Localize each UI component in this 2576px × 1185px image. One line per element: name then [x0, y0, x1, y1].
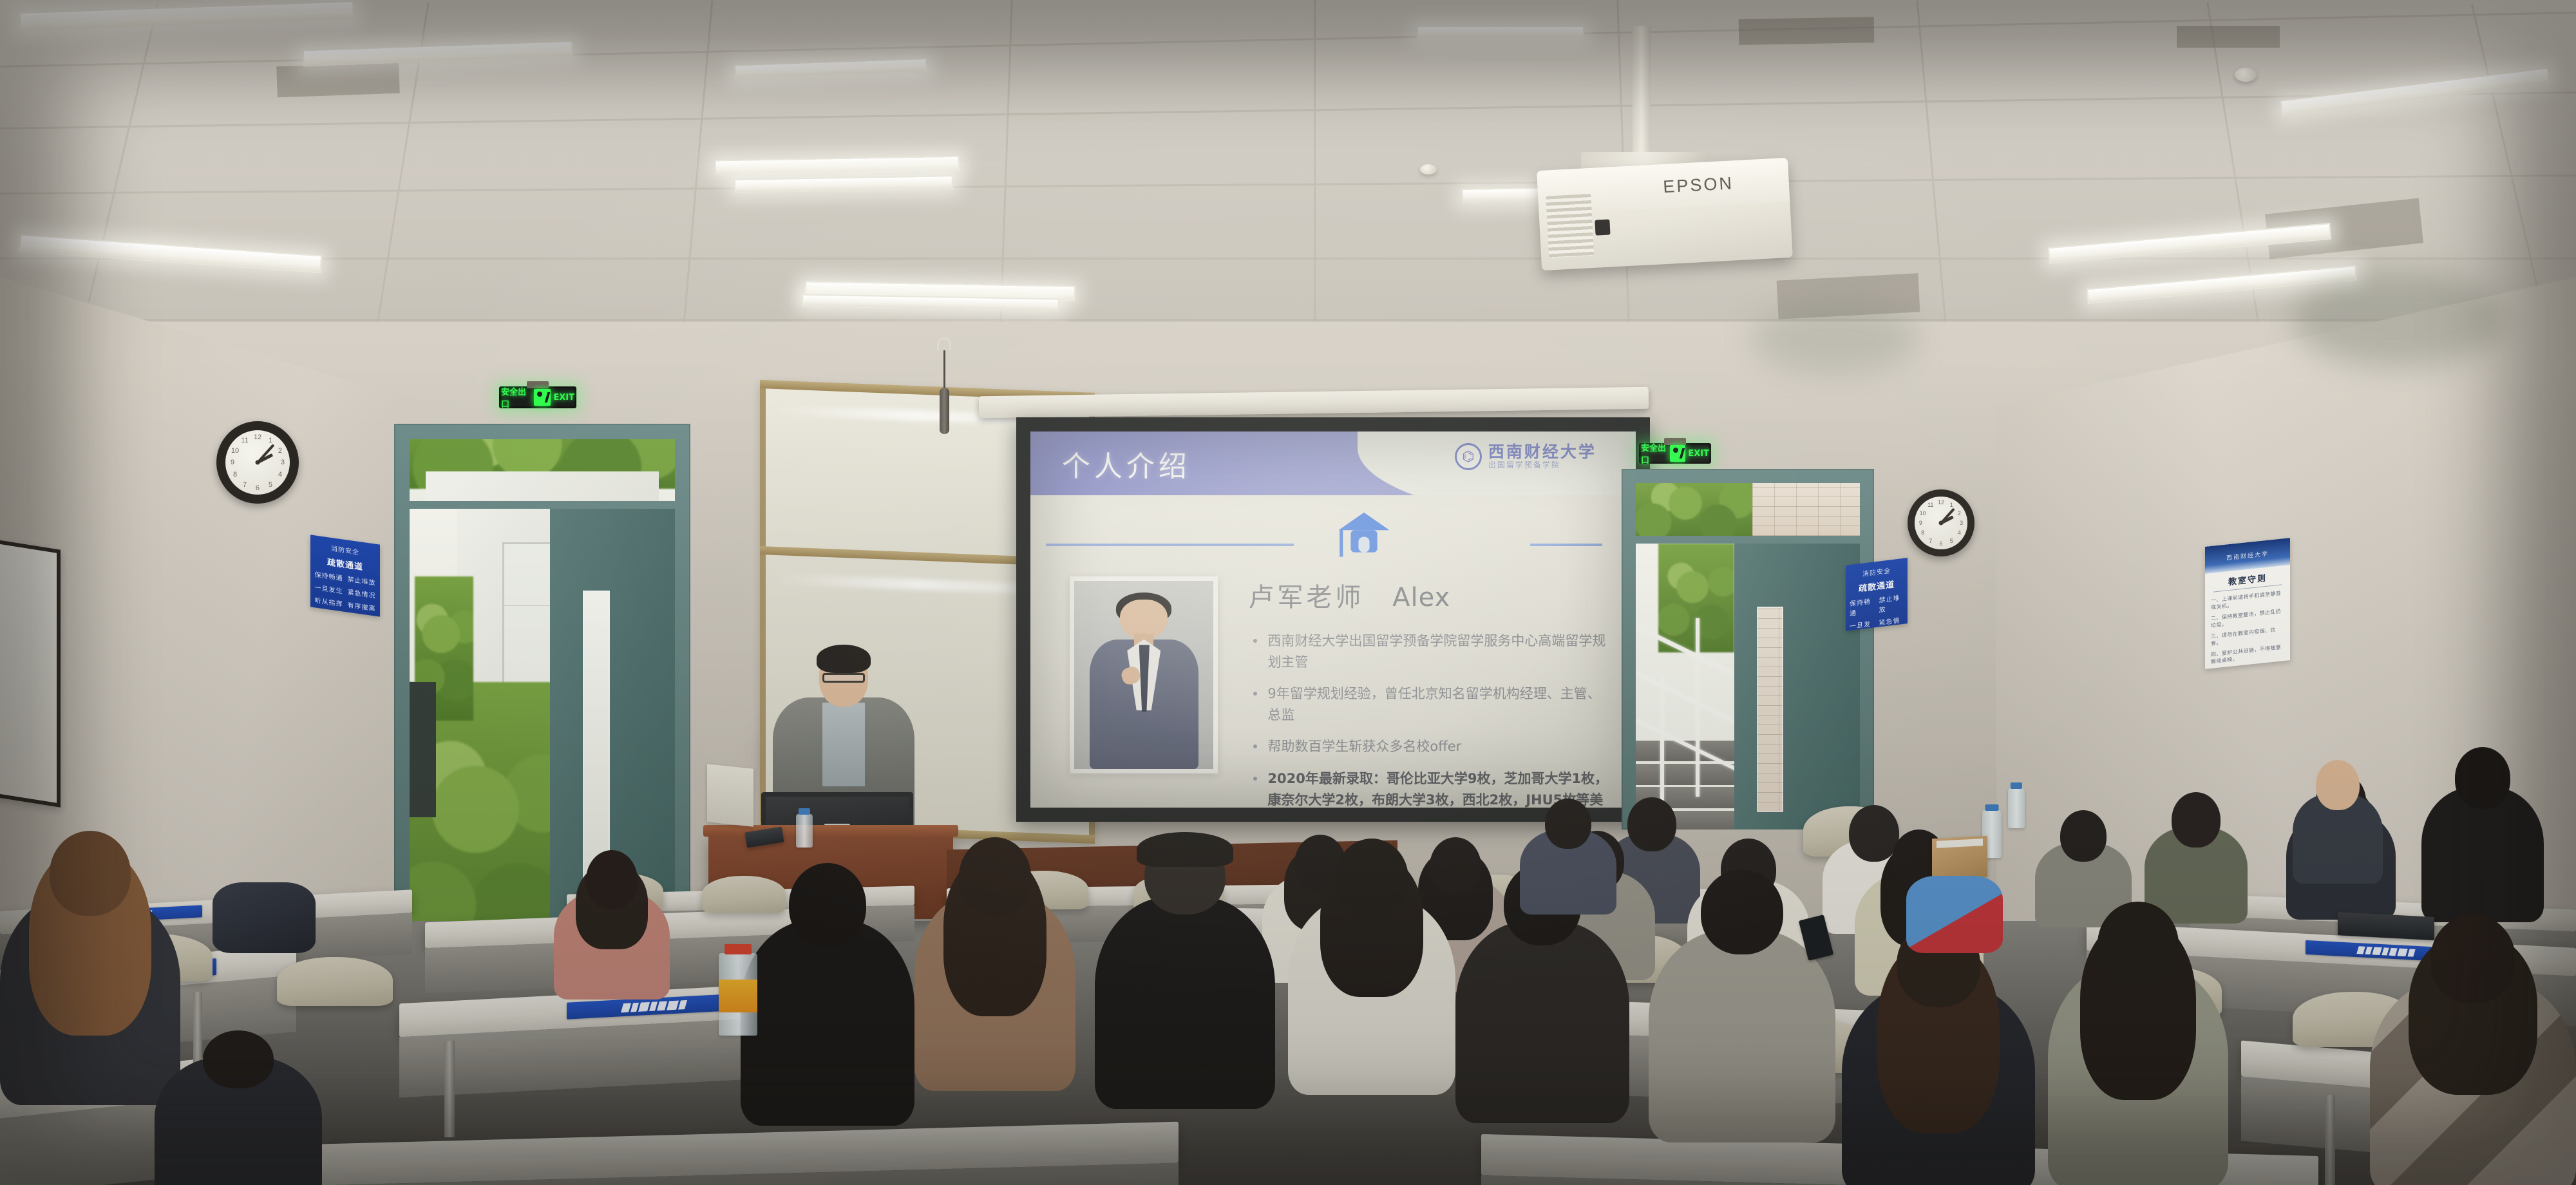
microphone-cable: [943, 350, 945, 389]
ceiling-vent: [276, 62, 400, 98]
bullet-item: 西南财经大学出国留学预备学院留学服务中心高端留学规划主管: [1248, 630, 1611, 672]
ceiling-light: [1417, 26, 1584, 39]
student-head: [50, 831, 131, 916]
door-glass-panel: [1757, 607, 1783, 813]
box-tape: [1937, 839, 1983, 848]
student: [554, 850, 670, 998]
student-torso: [1455, 921, 1629, 1123]
chair: [277, 957, 393, 1006]
clock-numeral: 12: [254, 433, 261, 441]
projector-lens: [1595, 219, 1611, 236]
stair-railing-post: [1696, 618, 1700, 797]
bottle-label: [719, 980, 757, 1012]
clock-numeral: 11: [241, 437, 248, 444]
slide-title: 个人介绍: [1062, 443, 1191, 484]
wall-stain: [1752, 303, 1919, 374]
student-head: [2430, 915, 2515, 1003]
presenter-hair: [817, 645, 871, 673]
university-logo: ⌬ 西南财经大学 出国留学预备学院: [1455, 443, 1596, 470]
student: [0, 831, 180, 1108]
desk-panel: [277, 1163, 1179, 1185]
student-head: [2316, 760, 2360, 810]
classroom-rules-poster: 西南财经大学 教室守则 一、上课前请将手机调至静音或关机。 二、保持教室整洁，禁…: [2205, 538, 2290, 669]
clock-numeral: 2: [1958, 510, 1961, 517]
clock-center-pin: [1938, 520, 1943, 525]
bottle-cap: [1985, 804, 1999, 811]
presentation-slide: 个人介绍 ⌬ 西南财经大学 出国留学预备学院: [1030, 431, 1636, 808]
running-person-icon: [534, 389, 551, 406]
presenter-name-en: Alex: [1392, 583, 1450, 612]
student: [2048, 902, 2228, 1185]
placard-title: 疏散通道: [1859, 578, 1895, 594]
student-head: [203, 1030, 274, 1088]
door-opening: [1636, 544, 1860, 829]
student-head: [789, 863, 866, 947]
presenter-name-cn: 卢军老师: [1248, 583, 1364, 612]
wall-stain: [2293, 270, 2505, 367]
clock-numeral: 11: [1927, 502, 1933, 508]
presenter-name: 卢军老师 Alex: [1248, 576, 1611, 614]
student-torso: [1649, 930, 1835, 1142]
placard-header: 消防安全: [1862, 565, 1891, 578]
clock-numeral: 4: [278, 471, 282, 479]
desk-leg: [444, 1041, 455, 1137]
clock-numeral: 4: [1958, 529, 1961, 536]
bottle-cap: [2011, 782, 2022, 789]
poster-band-text: 西南财经大学: [2226, 549, 2269, 562]
running-person-icon: [1670, 445, 1685, 462]
ceiling: EPSON: [0, 0, 2576, 361]
clock-numeral: 8: [1921, 529, 1924, 536]
slide-divider-left: [1046, 544, 1294, 546]
wall-clock-right: 12 1 2 3 4 5 6 7 8 9 10 11: [1908, 489, 1975, 556]
notice-placard-right: 消防安全 疏散通道 保持畅通 禁止堆放 一旦发生 紧急情况 听从指挥 有序撤离: [1846, 558, 1908, 631]
placard-title: 疏散通道: [327, 555, 363, 573]
student: [914, 837, 1075, 1095]
clock-numeral: 9: [1919, 520, 1922, 526]
student: [1288, 839, 1455, 1096]
door-transom-window: [410, 439, 675, 501]
doorway-right[interactable]: [1622, 469, 1874, 829]
clock-center-pin: [255, 460, 260, 464]
student-head: [1335, 839, 1408, 918]
student-head: [1545, 799, 1591, 849]
projection-screen-frame: 个人介绍 ⌬ 西南财经大学 出国留学预备学院: [1016, 417, 1650, 822]
clock-numeral: 1: [269, 437, 272, 444]
whiteboard-surface: [0, 543, 57, 803]
placard-header: 消防安全: [331, 543, 359, 556]
clock-numeral: 8: [233, 471, 237, 479]
cardboard-box: [1932, 836, 1987, 880]
student: [2293, 760, 2383, 882]
student: [2421, 747, 2544, 927]
presenter-bio: 卢军老师 Alex 西南财经大学出国留学预备学院留学服务中心高端留学规划主管 9…: [1248, 576, 1611, 808]
microphone-clip: [937, 337, 951, 350]
presenter-photo-image: [1074, 581, 1213, 768]
student: [1095, 837, 1275, 1108]
university-logo-mark: ⌬: [1455, 443, 1482, 470]
student-torso: [1095, 896, 1275, 1109]
student-head: [586, 850, 638, 909]
student-cap: [1137, 832, 1233, 867]
notice-placard-left: 消防安全 疏散通道 保持畅通 禁止堆放 一旦发生 紧急情况 听从指挥 有序撤离: [310, 535, 380, 616]
lectern-top-surface: [703, 825, 958, 837]
projector-vent: [1546, 194, 1594, 258]
student-head: [2098, 902, 2179, 987]
student-head: [1701, 869, 1783, 954]
exit-sign-label-en: EXIT: [553, 393, 574, 403]
clock-face: 12 1 2 3 4 5 6 7 8 9 10 11: [1915, 497, 1967, 549]
student: [155, 1030, 322, 1185]
projector-brand-label: EPSON: [1663, 174, 1734, 198]
classroom-photo: EPSON 个人介绍: [0, 0, 2576, 1185]
clock-numeral: 10: [1920, 510, 1926, 517]
clock-numeral: 5: [1950, 538, 1953, 544]
ceiling-vent: [1739, 17, 1875, 45]
hanging-microphone: [940, 388, 949, 434]
smoke-detector: [1420, 164, 1437, 175]
slide-header: 个人介绍 ⌬ 西南财经大学 出国留学预备学院: [1030, 431, 1636, 495]
student-head: [2455, 747, 2510, 809]
exit-sign-bracket: [1664, 438, 1686, 445]
bottle-cap: [799, 808, 810, 815]
door-transom-window: [1636, 483, 1860, 536]
stair-railing: [1636, 625, 1739, 683]
presenter-photo: [1070, 576, 1218, 773]
door-leaf[interactable]: [1734, 544, 1860, 829]
slide-divider-right: [1530, 544, 1603, 546]
student-head: [2060, 810, 2107, 862]
backpack: [213, 882, 316, 953]
projector-mount-pole: [1633, 26, 1651, 164]
clock-numeral: 3: [281, 459, 285, 466]
left-wall-whiteboard: [0, 538, 61, 807]
clock-numeral: 7: [243, 481, 247, 489]
clock-numeral: 2: [278, 447, 282, 455]
university-department: 出国留学预备学院: [1488, 461, 1596, 469]
presenter-eyeglasses: [822, 673, 865, 683]
slide-body: 卢军老师 Alex 西南财经大学出国留学预备学院留学服务中心高端留学规划主管 9…: [1030, 495, 1636, 808]
student-head: [959, 837, 1031, 916]
wall-switch-panel[interactable]: [707, 764, 753, 827]
poster-rule-list: 一、上课前请将手机调至静音或关机。 二、保持教室整洁，禁止乱扔垃圾。 三、请勿在…: [2205, 584, 2290, 669]
exterior-dark-doorway: [410, 682, 436, 817]
presenter-shirt: [822, 703, 865, 786]
clock-face: 12 1 2 3 4 5 6 7 8 9 10 11: [225, 430, 290, 495]
bullet-item: 9年留学规划经验，曾任北京知名留学机构经理、主管、总监: [1248, 683, 1611, 725]
smoke-detector: [2235, 68, 2257, 82]
clock-numeral: 6: [1939, 540, 1942, 547]
clock-numeral: 12: [1938, 499, 1944, 506]
bullet-item: 帮助数百学生斩获众多名校offer: [1248, 736, 1611, 757]
student: [1842, 921, 2035, 1185]
student: [741, 863, 914, 1121]
stair-railing: [1636, 671, 1739, 729]
clock-numeral: 6: [256, 484, 260, 492]
water-bottle: [2008, 788, 2025, 828]
student-torso: [741, 920, 914, 1126]
clock-numeral: 9: [231, 459, 234, 466]
student-head: [2172, 792, 2221, 848]
desk-leg: [2325, 1095, 2335, 1185]
student: [1520, 799, 1616, 915]
bottle-cap: [724, 944, 752, 954]
clock-numeral: 10: [231, 447, 239, 455]
ceiling-vent: [2177, 26, 2280, 48]
water-bottle: [796, 814, 813, 848]
clock-numeral: 7: [1929, 538, 1932, 544]
exit-sign-label-cn: 安全出口: [501, 385, 531, 410]
student: [2370, 915, 2576, 1185]
exit-sign-right: 安全出口 EXIT: [1639, 443, 1711, 464]
placard-row: 保持畅通 禁止堆放: [1850, 592, 1904, 618]
exterior-staircase: [1636, 595, 1739, 829]
water-bottle: [719, 953, 757, 1036]
projection-screen-surface: 个人介绍 ⌬ 西南财经大学 出国留学预备学院: [1030, 431, 1636, 808]
clock-numeral: 5: [269, 481, 272, 489]
university-name: 西南财经大学: [1488, 444, 1596, 460]
presenter-bullet-list: 西南财经大学出国留学预备学院留学服务中心高端留学规划主管 9年留学规划经验，曾任…: [1248, 630, 1611, 808]
exit-sign-bracket: [527, 381, 549, 388]
graduation-cap-icon: [1336, 511, 1392, 559]
exit-sign-left: 安全出口 EXIT: [499, 386, 576, 408]
exit-sign-label-en: EXIT: [1688, 449, 1709, 459]
university-logo-text: 西南财经大学 出国留学预备学院: [1488, 444, 1596, 469]
clock-numeral: 3: [1960, 520, 1963, 526]
wall-clock-left: 12 1 2 3 4 5 6 7 8 9 10 11: [216, 421, 299, 504]
backpack: [1906, 876, 2003, 953]
ceiling-projector: EPSON: [1537, 158, 1793, 270]
student: [1649, 869, 1835, 1140]
